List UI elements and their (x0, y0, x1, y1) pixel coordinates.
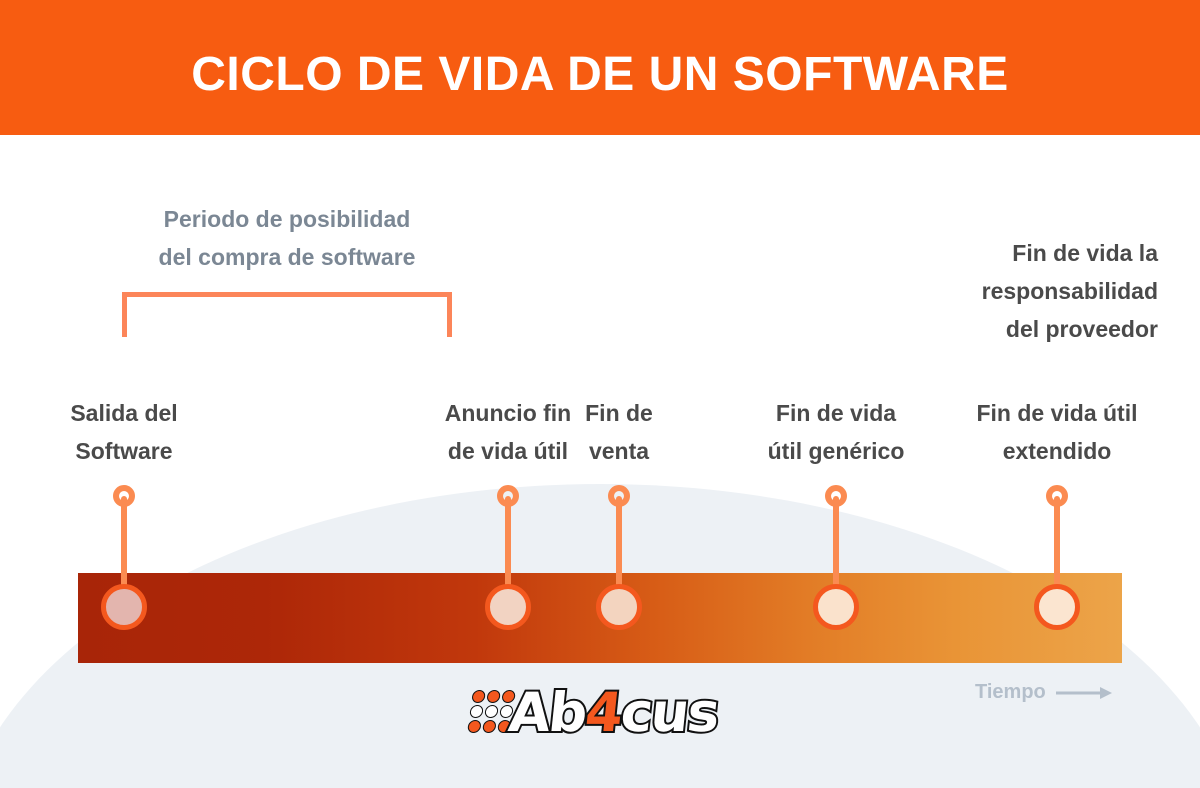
vendor-note-line3: del proveedor (1006, 316, 1158, 342)
milestone-label-salida-del-software: Salida delSoftware (14, 394, 234, 470)
abacus-dot (486, 690, 501, 703)
milestone-dot-icon (1034, 584, 1080, 630)
time-axis-label: Tiempo (975, 681, 1112, 704)
time-axis-text: Tiempo (975, 681, 1046, 704)
infographic-canvas: CICLO DE VIDA DE UN SOFTWARE Periodo de … (0, 0, 1200, 788)
milestone-top-ring-icon (825, 485, 847, 507)
purchase-period-label-line2: del compra de software (159, 244, 416, 270)
milestone-top-ring-icon (608, 485, 630, 507)
vendor-responsibility-note: Fin de vida la responsabilidad del prove… (798, 234, 1158, 348)
abacus-logo-wordmark: Ab4cus (506, 686, 720, 740)
abacus-dot (469, 705, 484, 718)
abacus-dot (484, 705, 499, 718)
milestone-label-line2: Software (75, 438, 172, 464)
milestone-label-fin-de-vida-util-generico: Fin de vidaútil genérico (721, 394, 951, 470)
purchase-period-label-line1: Periodo de posibilidad (164, 206, 411, 232)
purchase-period-label: Periodo de posibilidad del compra de sof… (82, 200, 492, 276)
milestone-label-line1: Fin de vida útil (976, 400, 1137, 426)
arrow-right-icon (1056, 686, 1112, 700)
milestone-label-line1: Fin de vida (776, 400, 896, 426)
milestone-dot-icon (485, 584, 531, 630)
abacus-dot (467, 720, 482, 733)
vendor-note-line2: responsabilidad (982, 278, 1158, 304)
milestone-label-line1: Fin de (585, 400, 653, 426)
milestone-label-fin-de-vida-util-extendido: Fin de vida útilextendido (942, 394, 1172, 470)
milestone-label-line2: venta (589, 438, 649, 464)
milestone-dot-icon (101, 584, 147, 630)
logo-text-before: Ab (506, 681, 589, 744)
milestone-top-ring-icon (497, 485, 519, 507)
milestone-label-line1: Salida del (70, 400, 177, 426)
milestone-label-fin-de-venta: Fin deventa (544, 394, 694, 470)
page-title: CICLO DE VIDA DE UN SOFTWARE (0, 47, 1200, 103)
milestone-dot-icon (813, 584, 859, 630)
milestone-label-line2: útil genérico (768, 438, 905, 464)
purchase-period-bracket (122, 292, 452, 337)
header-banner: CICLO DE VIDA DE UN SOFTWARE (0, 0, 1200, 135)
logo-text-after: cus (618, 681, 721, 744)
abacus-dot (471, 690, 486, 703)
milestone-top-ring-icon (113, 485, 135, 507)
abacus-dot (482, 720, 497, 733)
abacus-logo: Ab4cus (470, 686, 718, 740)
vendor-note-line1: Fin de vida la (1012, 240, 1158, 266)
milestone-label-line2: extendido (1003, 438, 1112, 464)
milestone-dot-icon (596, 584, 642, 630)
milestone-top-ring-icon (1046, 485, 1068, 507)
